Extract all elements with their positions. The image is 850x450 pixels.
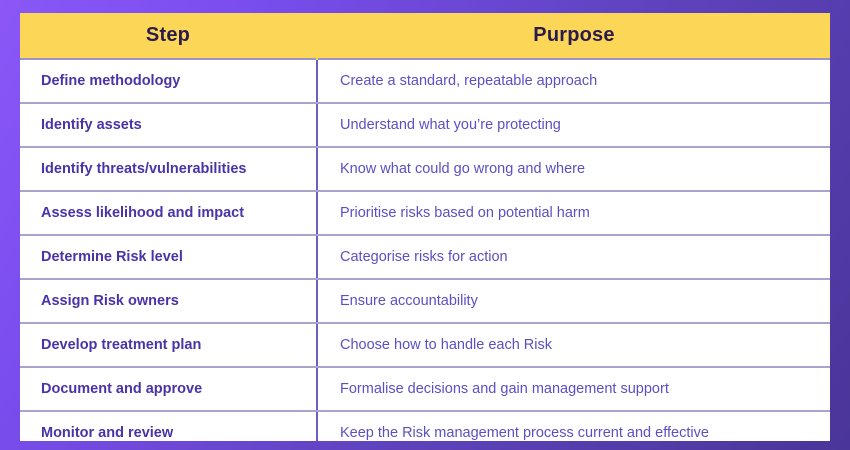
table-row: Determine Risk level Categorise risks fo… bbox=[20, 235, 830, 279]
slide-canvas: Step Purpose Define methodology Create a… bbox=[0, 0, 850, 450]
table-row: Document and approve Formalise decisions… bbox=[20, 367, 830, 411]
table-row: Develop treatment plan Choose how to han… bbox=[20, 323, 830, 367]
column-header-step: Step bbox=[20, 13, 317, 59]
table-row: Identify threats/vulnerabilities Know wh… bbox=[20, 147, 830, 191]
cell-purpose: Keep the Risk management process current… bbox=[317, 411, 830, 441]
table-row: Assess likelihood and impact Prioritise … bbox=[20, 191, 830, 235]
table-row: Assign Risk owners Ensure accountability bbox=[20, 279, 830, 323]
cell-purpose: Categorise risks for action bbox=[317, 235, 830, 279]
cell-purpose: Ensure accountability bbox=[317, 279, 830, 323]
table-row: Define methodology Create a standard, re… bbox=[20, 59, 830, 103]
cell-purpose: Understand what you’re protecting bbox=[317, 103, 830, 147]
table-row: Identify assets Understand what you’re p… bbox=[20, 103, 830, 147]
cell-step: Assign Risk owners bbox=[20, 279, 317, 323]
cell-step: Determine Risk level bbox=[20, 235, 317, 279]
cell-step: Identify assets bbox=[20, 103, 317, 147]
cell-step: Assess likelihood and impact bbox=[20, 191, 317, 235]
table-header: Step Purpose bbox=[20, 13, 830, 59]
cell-purpose: Create a standard, repeatable approach bbox=[317, 59, 830, 103]
cell-purpose: Know what could go wrong and where bbox=[317, 147, 830, 191]
cell-step: Document and approve bbox=[20, 367, 317, 411]
table-row: Monitor and review Keep the Risk managem… bbox=[20, 411, 830, 441]
cell-step: Monitor and review bbox=[20, 411, 317, 441]
risk-process-table: Step Purpose Define methodology Create a… bbox=[20, 13, 830, 441]
cell-purpose: Prioritise risks based on potential harm bbox=[317, 191, 830, 235]
cell-purpose: Formalise decisions and gain management … bbox=[317, 367, 830, 411]
cell-step: Identify threats/vulnerabilities bbox=[20, 147, 317, 191]
column-header-purpose: Purpose bbox=[317, 13, 830, 59]
table-header-row: Step Purpose bbox=[20, 13, 830, 59]
cell-step: Develop treatment plan bbox=[20, 323, 317, 367]
cell-purpose: Choose how to handle each Risk bbox=[317, 323, 830, 367]
cell-step: Define methodology bbox=[20, 59, 317, 103]
table-body: Define methodology Create a standard, re… bbox=[20, 59, 830, 441]
risk-process-table-container: Step Purpose Define methodology Create a… bbox=[20, 13, 830, 441]
